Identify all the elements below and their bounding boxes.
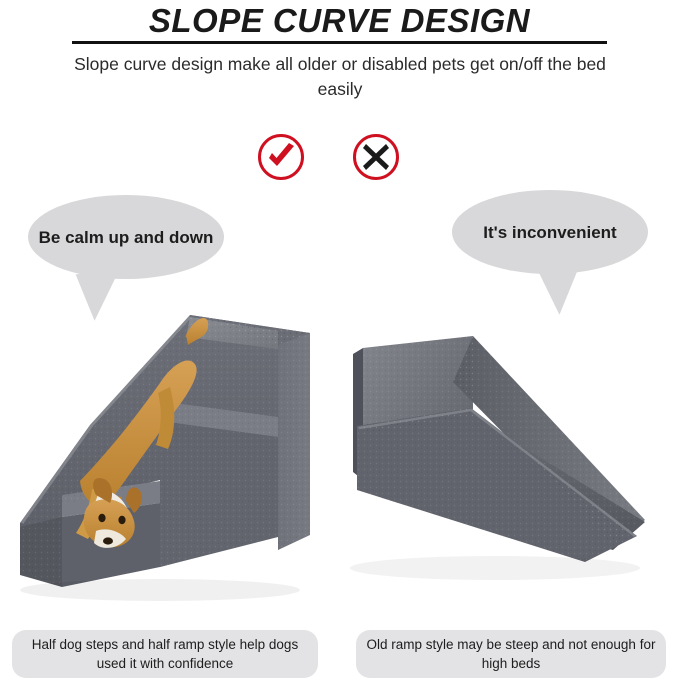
- caption-right: Old ramp style may be steep and not enou…: [356, 630, 666, 678]
- check-badge: [258, 134, 304, 180]
- page-title: SLOPE CURVE DESIGN: [0, 2, 679, 40]
- check-icon: [261, 137, 301, 177]
- pet-ramp-illustration: [345, 330, 670, 605]
- speech-bubble-right: It's inconvenient: [452, 190, 648, 274]
- close-icon: [356, 137, 396, 177]
- product-photo-ramp: [345, 330, 670, 605]
- caption-left: Half dog steps and half ramp style help …: [12, 630, 318, 678]
- product-photo-stairs: [10, 305, 330, 605]
- page-subtitle: Slope curve design make all older or dis…: [60, 52, 620, 102]
- pet-stairs-illustration: [10, 305, 330, 605]
- promo-image: SLOPE CURVE DESIGN Slope curve design ma…: [0, 0, 679, 688]
- cross-badge: [353, 134, 399, 180]
- speech-bubble-left: Be calm up and down: [28, 195, 224, 279]
- title-underline: [72, 41, 607, 44]
